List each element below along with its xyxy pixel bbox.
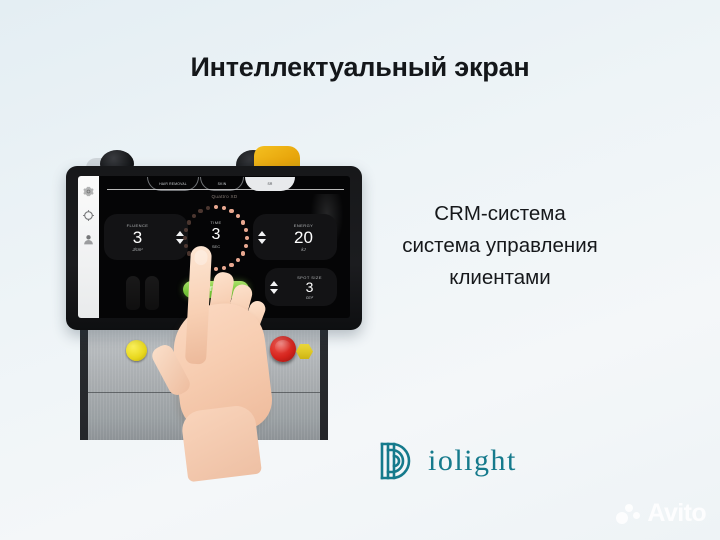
diolight-wordmark: iolight [428, 446, 517, 476]
chevron-down-icon[interactable] [270, 289, 278, 294]
treatment-mode-icon[interactable] [82, 209, 95, 222]
page-title: Интеллектуальный экран [0, 52, 720, 83]
ring-dot [192, 214, 196, 218]
tablet-screen[interactable]: HAIR REMOVAL SKIN SR Quattro XD FLUENCE … [78, 176, 350, 318]
ring-dot [198, 263, 202, 267]
tab-hair-removal[interactable]: HAIR REMOVAL [147, 177, 199, 191]
diolight-logo: iolight [378, 440, 517, 482]
ring-dot [236, 214, 240, 218]
start-button[interactable]: START [183, 281, 249, 298]
hazard-hex-label [296, 344, 313, 359]
energy-value: 20 [270, 228, 337, 247]
screen-tab-strip: HAIR REMOVAL SKIN SR [99, 176, 350, 191]
chevron-down-icon[interactable] [258, 239, 266, 244]
side-copy-line-1: CRM-система [352, 198, 648, 230]
avito-wordmark: Avito [647, 501, 706, 526]
energy-readout: ENERGY 20 kJ [270, 223, 337, 252]
energy-unit: kJ [270, 247, 337, 252]
fluence-unit: J/cm² [104, 247, 171, 252]
ring-dot [241, 251, 245, 255]
fluence-panel[interactable]: FLUENCE 3 J/cm² [104, 214, 188, 260]
tablet-device: HAIR REMOVAL SKIN SR Quattro XD FLUENCE … [66, 166, 362, 330]
energy-panel[interactable]: ENERGY 20 kJ [253, 214, 337, 260]
ring-dot [241, 220, 245, 224]
screen-sidebar [78, 176, 99, 318]
device-photo: HAIR REMOVAL SKIN SR Quattro XD FLUENCE … [58, 140, 370, 440]
ring-dot [222, 266, 226, 270]
side-copy-line-2: система управления [352, 230, 648, 262]
spot-size-panel[interactable]: SPOT SIZE 3 cm² [265, 268, 337, 306]
ring-dot [206, 266, 210, 270]
panel-seam [88, 392, 320, 393]
slide-canvas: Интеллектуальный экран CRM-система систе… [0, 0, 720, 540]
diolight-d-monogram-icon [378, 440, 418, 482]
yellow-indicator-button[interactable] [126, 340, 147, 361]
time-progress-ring: TIME 3 SEC [180, 202, 252, 274]
patient-silhouette-art [114, 264, 176, 316]
spot-size-stepper[interactable] [265, 281, 282, 294]
energy-stepper[interactable] [253, 231, 270, 244]
settings-gear-icon[interactable] [82, 185, 95, 198]
spot-size-readout: SPOT SIZE 3 cm² [282, 275, 337, 300]
chevron-up-icon[interactable] [258, 231, 266, 236]
ring-dot [229, 263, 233, 267]
ring-dot [229, 209, 233, 213]
machine-body [80, 312, 328, 440]
time-value: 3 [180, 225, 252, 244]
time-unit: SEC [180, 244, 252, 249]
emergency-stop-button[interactable] [270, 336, 296, 362]
ring-dot [198, 209, 202, 213]
ring-dot [214, 267, 218, 271]
patient-profile-icon[interactable] [82, 233, 95, 246]
ring-dot [214, 205, 218, 209]
side-copy-line-3: клиентами [352, 262, 648, 294]
ring-dot [187, 251, 191, 255]
avito-dots-icon [616, 503, 642, 525]
machine-front-panel [88, 318, 320, 440]
fluence-value: 3 [104, 228, 171, 247]
ring-dot [187, 220, 191, 224]
spot-size-value: 3 [282, 280, 337, 295]
ring-dot [236, 258, 240, 262]
chevron-up-icon[interactable] [270, 281, 278, 286]
spot-size-unit: cm² [282, 295, 337, 300]
tab-sr[interactable]: SR [245, 177, 295, 191]
avito-watermark: Avito [616, 501, 706, 526]
fluence-readout: FLUENCE 3 J/cm² [104, 223, 171, 252]
ring-dot [222, 206, 226, 210]
ring-dot [206, 206, 210, 210]
side-copy-block: CRM-система система управления клиентами [352, 198, 648, 294]
ring-dot [192, 258, 196, 262]
